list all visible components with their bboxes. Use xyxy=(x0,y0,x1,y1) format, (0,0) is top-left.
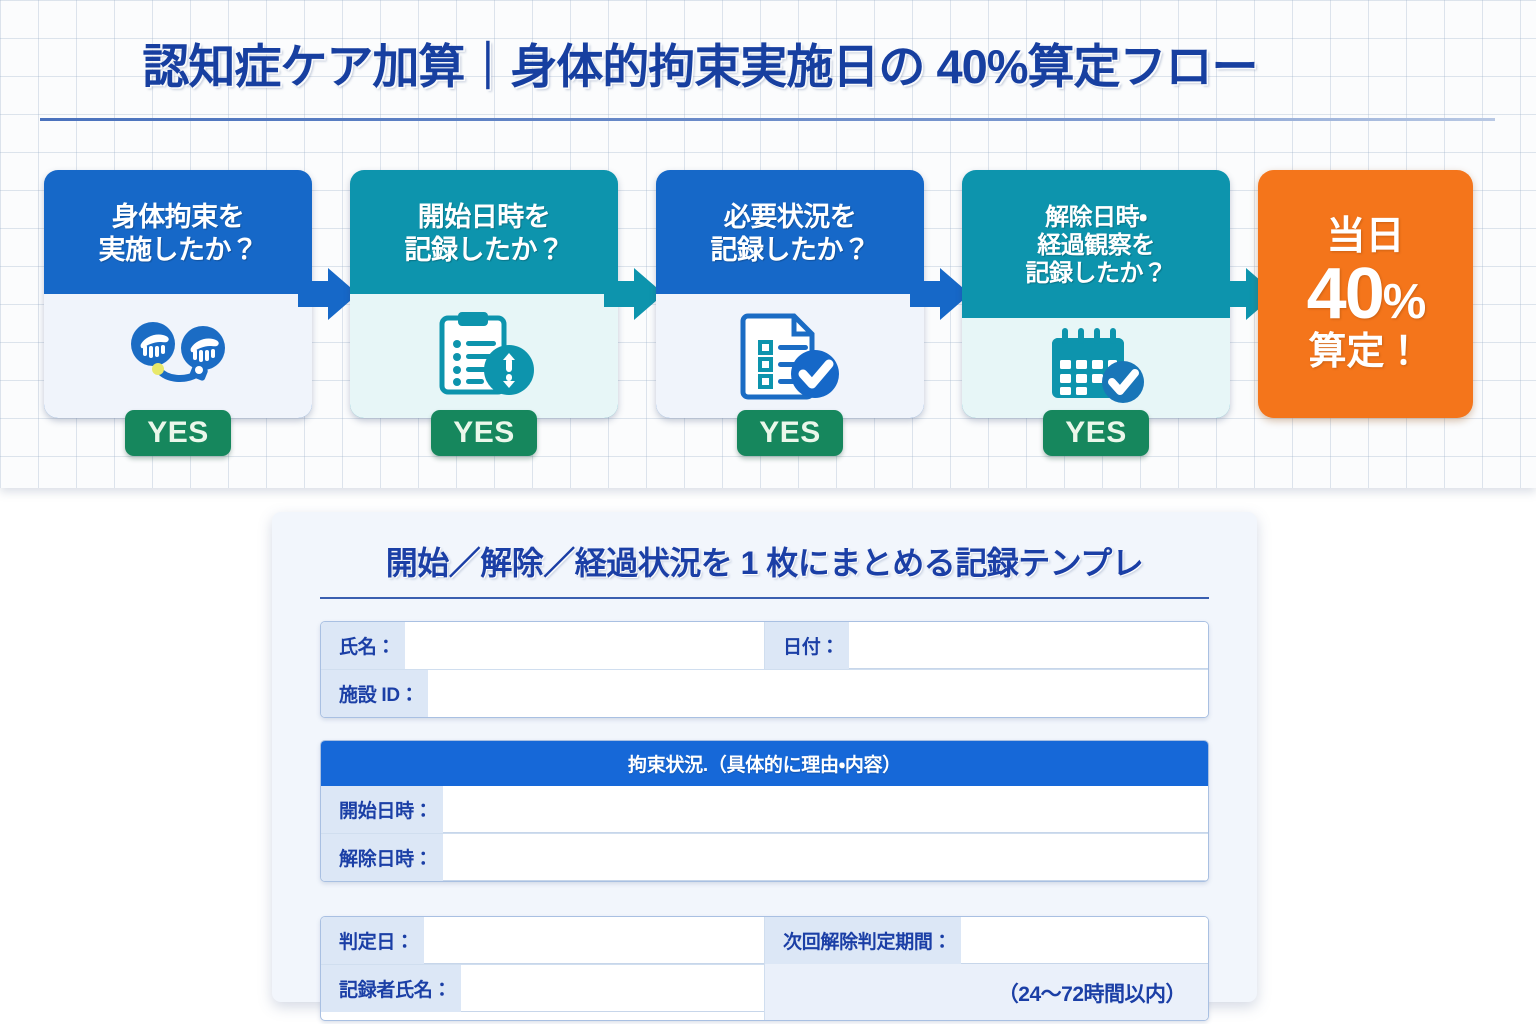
flow-result-card[interactable]: 当日 40% 算定！ xyxy=(1258,170,1473,418)
form-group-decision-left: 判定日： 記録者氏名： xyxy=(321,917,765,1020)
form-block-situation: 拘束状況.（具体的に理由・内容） 開始日時： 解除日時： xyxy=(320,740,1209,882)
form-input-start[interactable] xyxy=(443,786,1208,833)
form-title: 開始／解除／経過状況を 1 枚にまとめる記録テンプレ xyxy=(302,538,1227,584)
flow-step-3-question-text: 必要状況を 記録したか？ xyxy=(711,201,870,267)
flow-step-1-yes-label: YES xyxy=(147,416,209,450)
flow-step-3-question: 必要状況を 記録したか？ xyxy=(656,170,924,294)
flow-step-4-yes-label: YES xyxy=(1065,416,1127,450)
flow-step-2-question: 開始日時を 記録したか？ xyxy=(350,170,618,294)
form-input-name[interactable] xyxy=(405,622,764,669)
flow-step-1-yes-badge: YES xyxy=(125,410,231,456)
flow-step-3-icon-pane xyxy=(656,294,924,418)
flow-step-4-question-text: 解除日時・ 経過観察を 記録したか？ xyxy=(1026,204,1167,289)
flow-result-percent: % xyxy=(1383,275,1425,329)
flow-step-2-icon-pane xyxy=(350,294,618,418)
form-label-observer: 記録者氏名： xyxy=(321,965,461,1012)
flow-step-2[interactable]: 開始日時を 記録したか？ xyxy=(350,170,618,418)
form-input-release[interactable] xyxy=(443,834,1208,881)
form-row-facility-id: 施設 ID： xyxy=(321,669,1208,717)
form-field-name[interactable]: 氏名： xyxy=(321,622,765,669)
flow-step-3-yes-label: YES xyxy=(759,416,821,450)
flow-step-2-question-text: 開始日時を 記録したか？ xyxy=(405,201,564,267)
title-divider xyxy=(40,118,1495,121)
form-field-date[interactable]: 日付： xyxy=(765,622,1208,669)
restraint-hands-icon xyxy=(119,314,237,399)
form-label-facility-id: 施設 ID： xyxy=(321,670,428,717)
flow-step-4[interactable]: 解除日時・ 経過観察を 記録したか？ xyxy=(962,170,1230,418)
flow-step-2-yes-badge: YES xyxy=(431,410,537,456)
calendar-check-icon xyxy=(1040,326,1152,411)
form-row-decision: 判定日： 記録者氏名： 次回解除判定期間： （24〜72時間以内） xyxy=(321,917,1208,1020)
flow-step-3[interactable]: 必要状況を 記録したか？ xyxy=(656,170,924,418)
form-label-decision-date: 判定日： xyxy=(321,917,424,964)
clipboard-alert-icon xyxy=(430,308,538,405)
form-section-bar: 拘束状況.（具体的に理由・内容） xyxy=(321,741,1208,786)
record-template-panel: 開始／解除／経過状況を 1 枚にまとめる記録テンプレ 氏名： 日付： 施設 ID… xyxy=(272,512,1257,1002)
form-label-start: 開始日時： xyxy=(321,786,443,833)
form-input-reassess[interactable] xyxy=(961,917,1208,964)
flow-panel: 認知症ケア加算｜身体的拘束実施日の 40%算定フロー 身体拘束を 実施したか？ xyxy=(0,0,1536,488)
flow-step-4-yes-badge: YES xyxy=(1043,410,1149,456)
form-input-facility-id[interactable] xyxy=(428,670,1208,717)
form-row-reassess: 次回解除判定期間： xyxy=(765,917,1208,964)
form-row-start: 開始日時： xyxy=(321,786,1208,833)
flow-step-1-icon-pane xyxy=(44,294,312,418)
flow-step-1-question-text: 身体拘束を 実施したか？ xyxy=(99,201,258,267)
flow-step-1-question: 身体拘束を 実施したか？ xyxy=(44,170,312,294)
flow-step-1[interactable]: 身体拘束を 実施したか？ xyxy=(44,170,312,418)
form-group-reassess: 次回解除判定期間： （24〜72時間以内） xyxy=(765,917,1208,1020)
form-label-name: 氏名： xyxy=(321,622,405,669)
flow-result-value: 40% xyxy=(1307,258,1425,331)
form-row-decision-date: 判定日： xyxy=(321,917,764,964)
page-title-text: 認知症ケア加算｜身体的拘束実施日の 40%算定フロー xyxy=(40,28,1360,97)
flow-result-line3: 算定！ xyxy=(1308,333,1422,371)
flow-steps-row: 身体拘束を 実施したか？ xyxy=(0,170,1536,470)
form-row-name-date: 氏名： 日付： xyxy=(321,622,1208,669)
form-input-date[interactable] xyxy=(849,622,1208,669)
form-note-reassess: （24〜72時間以内） xyxy=(765,964,1208,1020)
flow-result-number: 40 xyxy=(1307,254,1383,334)
form-label-release: 解除日時： xyxy=(321,834,443,881)
page-root: 認知症ケア加算｜身体的拘束実施日の 40%算定フロー 身体拘束を 実施したか？ xyxy=(0,0,1536,1024)
flow-step-3-yes-badge: YES xyxy=(737,410,843,456)
flow-step-4-icon-pane xyxy=(962,318,1230,418)
form-title-divider xyxy=(320,597,1209,599)
document-checklist-check-icon xyxy=(734,308,846,405)
form-label-reassess: 次回解除判定期間： xyxy=(765,917,961,964)
flow-step-4-question: 解除日時・ 経過観察を 記録したか？ xyxy=(962,170,1230,318)
form-row-release: 解除日時： xyxy=(321,833,1208,881)
flow-step-2-yes-label: YES xyxy=(453,416,515,450)
page-title: 認知症ケア加算｜身体的拘束実施日の 40%算定フロー xyxy=(40,28,1360,97)
form-block-decision: 判定日： 記録者氏名： 次回解除判定期間： （24〜72時間以内） xyxy=(320,916,1209,1021)
form-label-date: 日付： xyxy=(765,622,849,669)
flow-result-line1: 当日 xyxy=(1326,217,1404,256)
form-input-observer[interactable] xyxy=(461,965,764,1012)
form-row-observer: 記録者氏名： xyxy=(321,964,764,1012)
form-block-identity: 氏名： 日付： 施設 ID： xyxy=(320,621,1209,718)
form-input-decision-date[interactable] xyxy=(424,917,764,964)
